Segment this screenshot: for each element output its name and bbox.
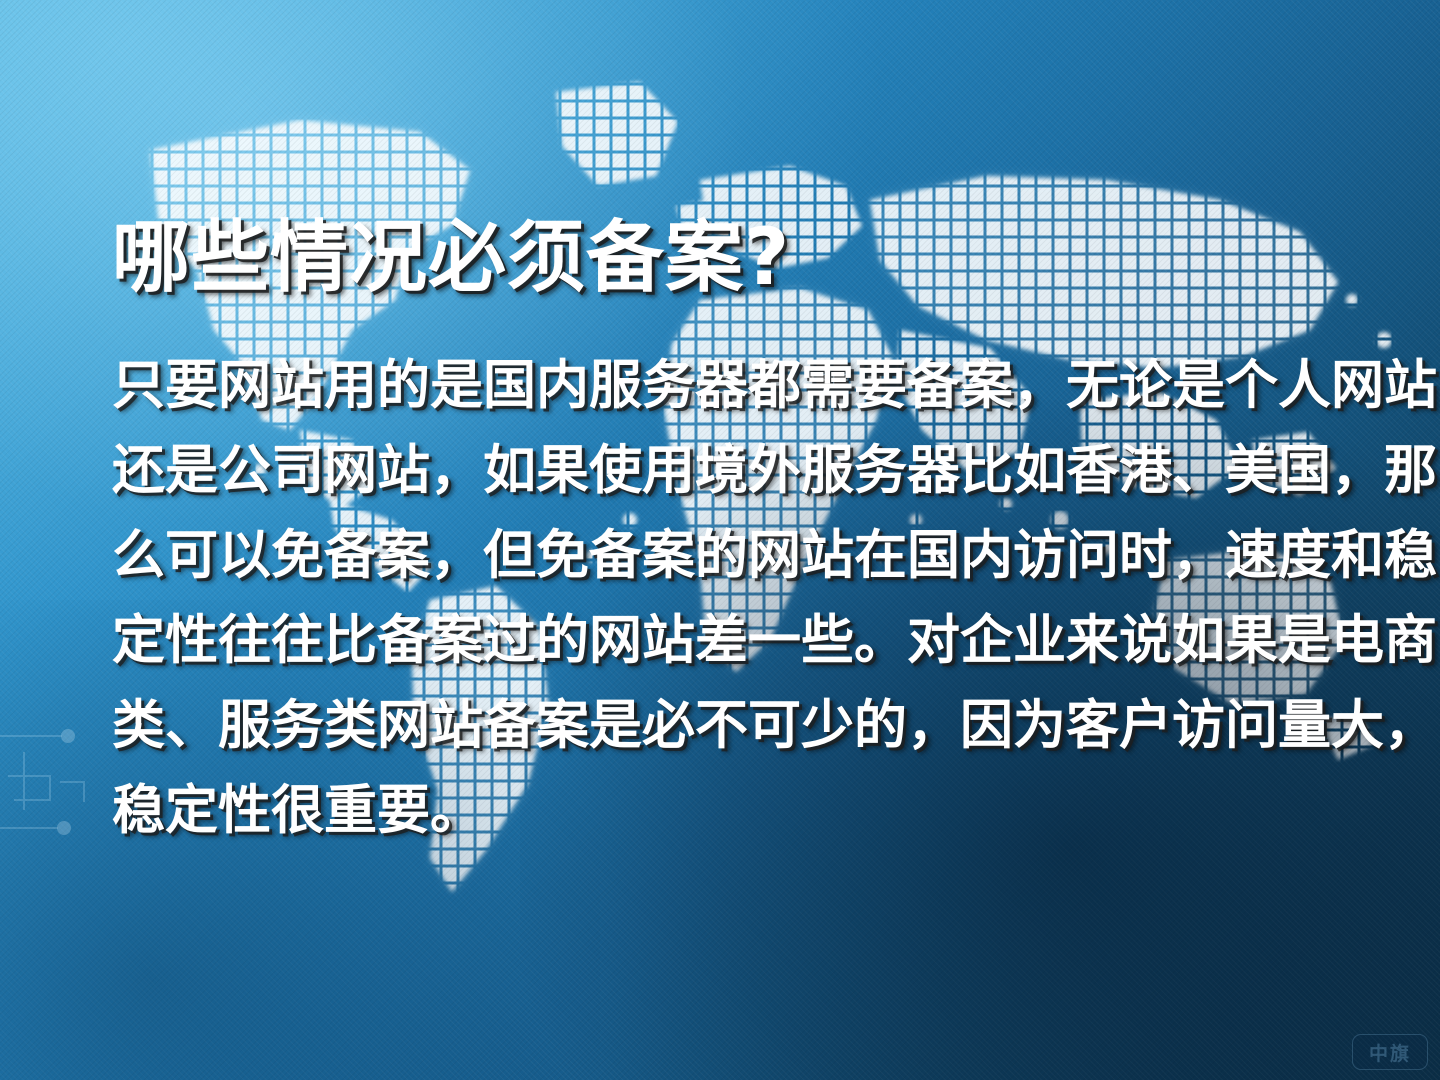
body-line: 稳定性很重要。 <box>112 773 1372 858</box>
body-line: 么可以免备案，但免备案的网站在国内访问时，速度和稳 <box>112 518 1372 603</box>
body-line: 类、服务类网站备案是必不可少的，因为客户访问量大， <box>112 688 1372 773</box>
body-line: 只要网站用的是国内服务器都需要备案，无论是个人网站 <box>112 348 1372 433</box>
slide-canvas: 哪些情况必须备案? 只要网站用的是国内服务器都需要备案，无论是个人网站 还是公司… <box>0 0 1440 1080</box>
body-line: 定性往往比备案过的网站差一些。对企业来说如果是电商 <box>112 603 1372 688</box>
text-content-block: 哪些情况必须备案? 只要网站用的是国内服务器都需要备案，无论是个人网站 还是公司… <box>112 218 1372 858</box>
watermark-badge: 中旗 <box>1352 1034 1428 1070</box>
body-paragraph: 只要网站用的是国内服务器都需要备案，无论是个人网站 还是公司网站，如果使用境外服… <box>112 348 1372 858</box>
page-title: 哪些情况必须备案? <box>112 218 1372 300</box>
body-line: 还是公司网站，如果使用境外服务器比如香港、美国，那 <box>112 433 1372 518</box>
